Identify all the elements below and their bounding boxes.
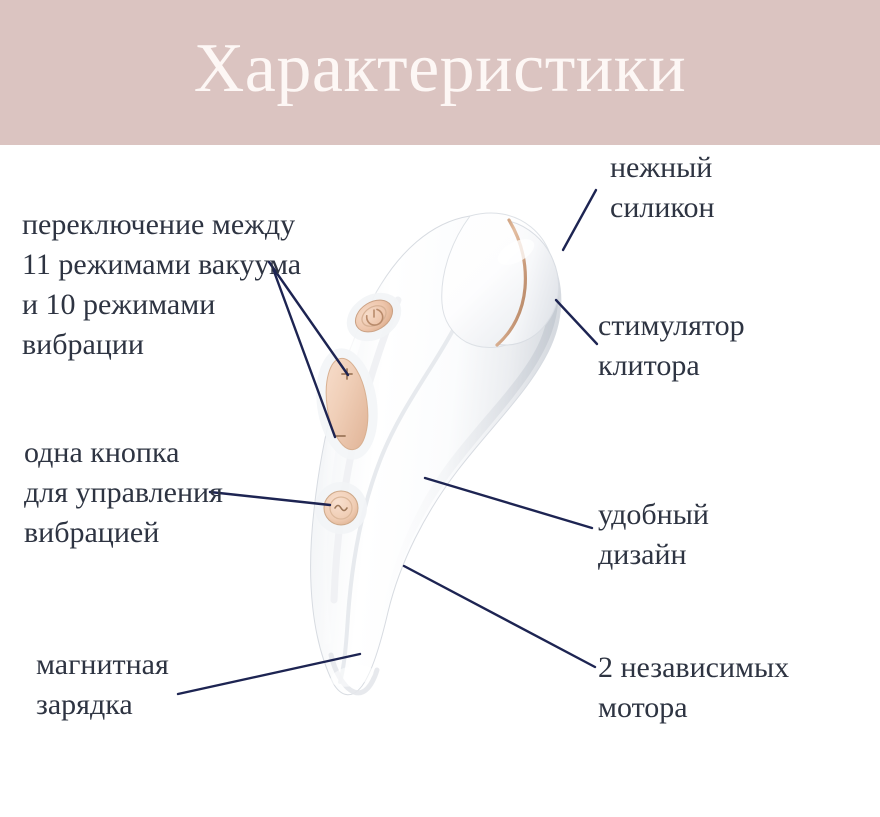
callout-vacuum-modes: переключение между 11 режимами вакуума и…	[22, 205, 301, 365]
feature-infographic: Характеристики	[0, 0, 880, 817]
device-rose-gold-ring	[497, 220, 525, 345]
line-single-button	[210, 492, 330, 505]
device-nozzle-head	[497, 221, 559, 345]
line-soft-silicone	[563, 190, 596, 250]
device-crease-line-2	[334, 300, 398, 600]
vibration-button-recess	[315, 482, 367, 534]
callout-comfortable-design: удобный дизайн	[598, 495, 709, 575]
page-title: Характеристики	[0, 0, 880, 145]
device-head-highlight	[494, 234, 539, 270]
line-clitoral-stimulator	[556, 300, 597, 344]
device-body-group	[309, 213, 560, 695]
vibration-button	[324, 491, 358, 525]
callout-single-button: одна кнопка для управления вибрацией	[24, 433, 223, 553]
device-handle	[311, 215, 561, 695]
intensity-pad-recess	[309, 344, 384, 463]
callout-soft-silicone: нежный силикон	[610, 148, 715, 228]
line-magnetic-charging	[178, 654, 360, 694]
device-left-highlight	[322, 276, 386, 640]
callout-magnetic-charging: магнитная зарядка	[36, 645, 169, 725]
wave-icon	[335, 506, 347, 511]
intensity-pad	[321, 356, 373, 453]
plus-icon	[342, 369, 352, 379]
device-neck	[442, 213, 554, 347]
callout-clitoral-stimulator: стимулятор клитора	[598, 306, 745, 386]
line-two-motors	[404, 566, 595, 667]
base-highlight	[328, 662, 375, 691]
line-comfortable-design	[425, 478, 592, 528]
callout-two-motors: 2 независимых мотора	[598, 648, 789, 728]
power-button	[350, 294, 399, 339]
device-crease-line	[340, 252, 467, 682]
power-button-recess	[338, 283, 411, 351]
magnetic-charging-base	[331, 655, 377, 693]
device-right-shade	[361, 216, 558, 686]
